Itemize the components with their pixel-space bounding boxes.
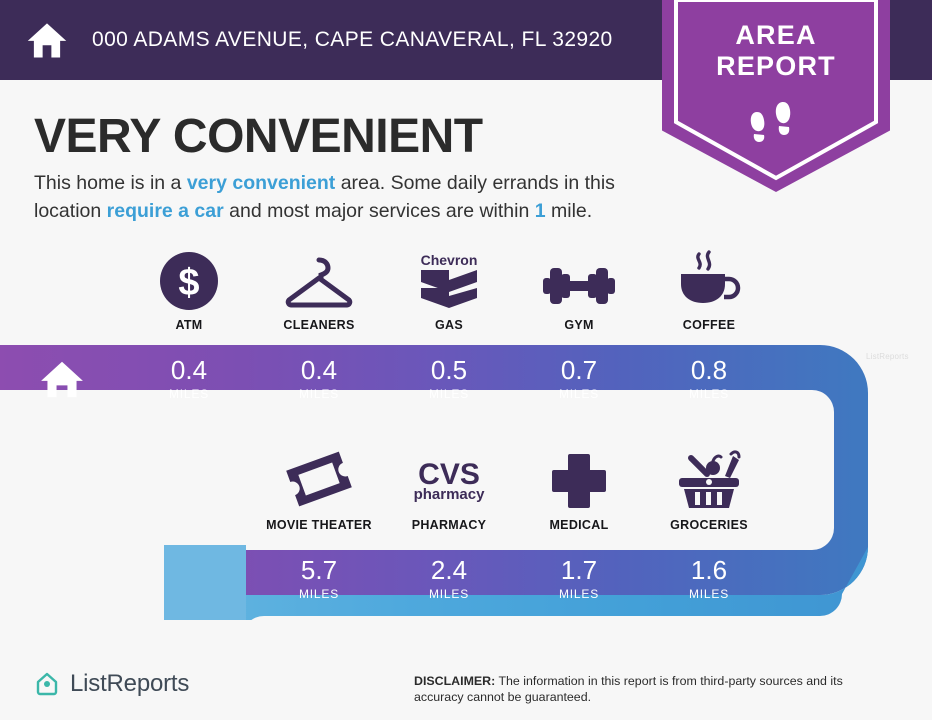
icon-cell-gym: GYM	[514, 248, 644, 332]
area-report-badge: AREA REPORT	[662, 0, 890, 192]
icon-cell-coffee: COFFEE	[644, 248, 774, 332]
icon-label: COFFEE	[644, 318, 774, 332]
distance-value: 0.4	[171, 357, 207, 383]
icon-cell-groceries: GROCERIES	[644, 448, 774, 532]
distance-segment-atm: 0.4 MILES	[124, 345, 254, 413]
distance-value: 0.5	[431, 357, 467, 383]
distance-segment-gym: 0.7 MILES	[514, 345, 644, 413]
icon-label: MEDICAL	[514, 518, 644, 532]
subtitle-highlight-2: require a car	[107, 200, 224, 222]
distance-value: 2.4	[431, 557, 467, 583]
icon-cell-cleaners: CLEANERS	[254, 248, 384, 332]
grocery-basket-icon	[644, 448, 774, 510]
distance-segment-pharmacy: 2.4 MILES	[384, 545, 514, 613]
footprints-icon	[662, 96, 890, 149]
distance-value: 0.4	[301, 357, 337, 383]
distance-value: 1.6	[691, 557, 727, 583]
distance-bar-row-primary: 0.4 MILES 0.4 MILES 0.5 MILES 0.7 MILES …	[0, 345, 932, 413]
distance-unit: MILES	[559, 587, 599, 601]
icon-label: GROCERIES	[644, 518, 774, 532]
subtitle-part-4: mile.	[546, 200, 593, 222]
icon-label: GAS	[384, 318, 514, 332]
icon-cell-medical: MEDICAL	[514, 448, 644, 532]
distance-segment-groceries: 1.6 MILES	[644, 545, 774, 613]
badge-line-2: REPORT	[662, 51, 890, 82]
distance-value: 0.8	[691, 357, 727, 383]
page-title: VERY CONVENIENT	[34, 109, 483, 164]
icon-cell-pharmacy: CVS pharmacy PHARMACY	[384, 448, 514, 532]
distance-segment-gas: 0.5 MILES	[384, 345, 514, 413]
distance-segment-medical: 1.7 MILES	[514, 545, 644, 613]
distance-segment-cleaners: 0.4 MILES	[254, 345, 384, 413]
hanger-icon	[254, 248, 384, 310]
svg-text:$: $	[178, 262, 199, 304]
dollar-circle-icon: $	[124, 248, 254, 310]
icon-label: GYM	[514, 318, 644, 332]
icon-label: CLEANERS	[254, 318, 384, 332]
svg-text:pharmacy: pharmacy	[414, 486, 486, 503]
watermark: ListReports	[866, 352, 909, 361]
disclaimer: DISCLAIMER: The information in this repo…	[414, 673, 892, 706]
subtitle: This home is in a very convenient area. …	[34, 170, 674, 225]
distance-value: 1.7	[561, 557, 597, 583]
coffee-cup-icon	[644, 248, 774, 310]
distance-unit: MILES	[299, 587, 339, 601]
icon-label: PHARMACY	[384, 518, 514, 532]
home-marker	[0, 345, 124, 413]
distance-unit: MILES	[299, 387, 339, 401]
cvs-logo-icon: CVS pharmacy	[384, 448, 514, 510]
distance-unit: MILES	[429, 387, 469, 401]
icon-cell-movie-theater: MOVIE THEATER	[254, 448, 384, 532]
distance-unit: MILES	[559, 387, 599, 401]
home-icon	[26, 19, 68, 61]
subtitle-highlight-3: 1	[535, 200, 546, 222]
chevron-logo-icon: Chevron	[384, 248, 514, 310]
subtitle-part-3: and most major services are within	[224, 200, 535, 222]
distance-segment-coffee: 0.8 MILES	[644, 345, 774, 413]
ticket-icon	[254, 448, 384, 510]
medical-cross-icon	[514, 448, 644, 510]
disclaimer-label: DISCLAIMER:	[414, 674, 495, 688]
distance-segment-movie-theater: 5.7 MILES	[254, 545, 384, 613]
subtitle-part-1: This home is in a	[34, 172, 187, 194]
icon-cell-gas: Chevron GAS	[384, 248, 514, 332]
svg-text:Chevron: Chevron	[421, 252, 478, 268]
icon-cell-atm: $ ATM	[124, 248, 254, 332]
distance-unit: MILES	[689, 587, 729, 601]
listreports-logo-text: ListReports	[70, 670, 189, 698]
distance-unit: MILES	[429, 587, 469, 601]
distance-unit: MILES	[169, 387, 209, 401]
badge-title: AREA REPORT	[662, 20, 890, 83]
distance-bar-row-secondary: 5.7 MILES 2.4 MILES 1.7 MILES 1.6 MILES	[0, 545, 932, 613]
dumbbell-icon	[514, 248, 644, 310]
property-address: 000 ADAMS AVENUE, CAPE CANAVERAL, FL 329…	[92, 28, 613, 52]
icon-label: ATM	[124, 318, 254, 332]
listreports-tag-icon	[34, 671, 60, 697]
subtitle-highlight-1: very convenient	[187, 172, 335, 194]
badge-line-1: AREA	[662, 20, 890, 51]
distance-value: 0.7	[561, 357, 597, 383]
icon-label: MOVIE THEATER	[254, 518, 384, 532]
distance-value: 5.7	[301, 557, 337, 583]
listreports-logo[interactable]: ListReports	[34, 670, 189, 698]
distance-unit: MILES	[689, 387, 729, 401]
